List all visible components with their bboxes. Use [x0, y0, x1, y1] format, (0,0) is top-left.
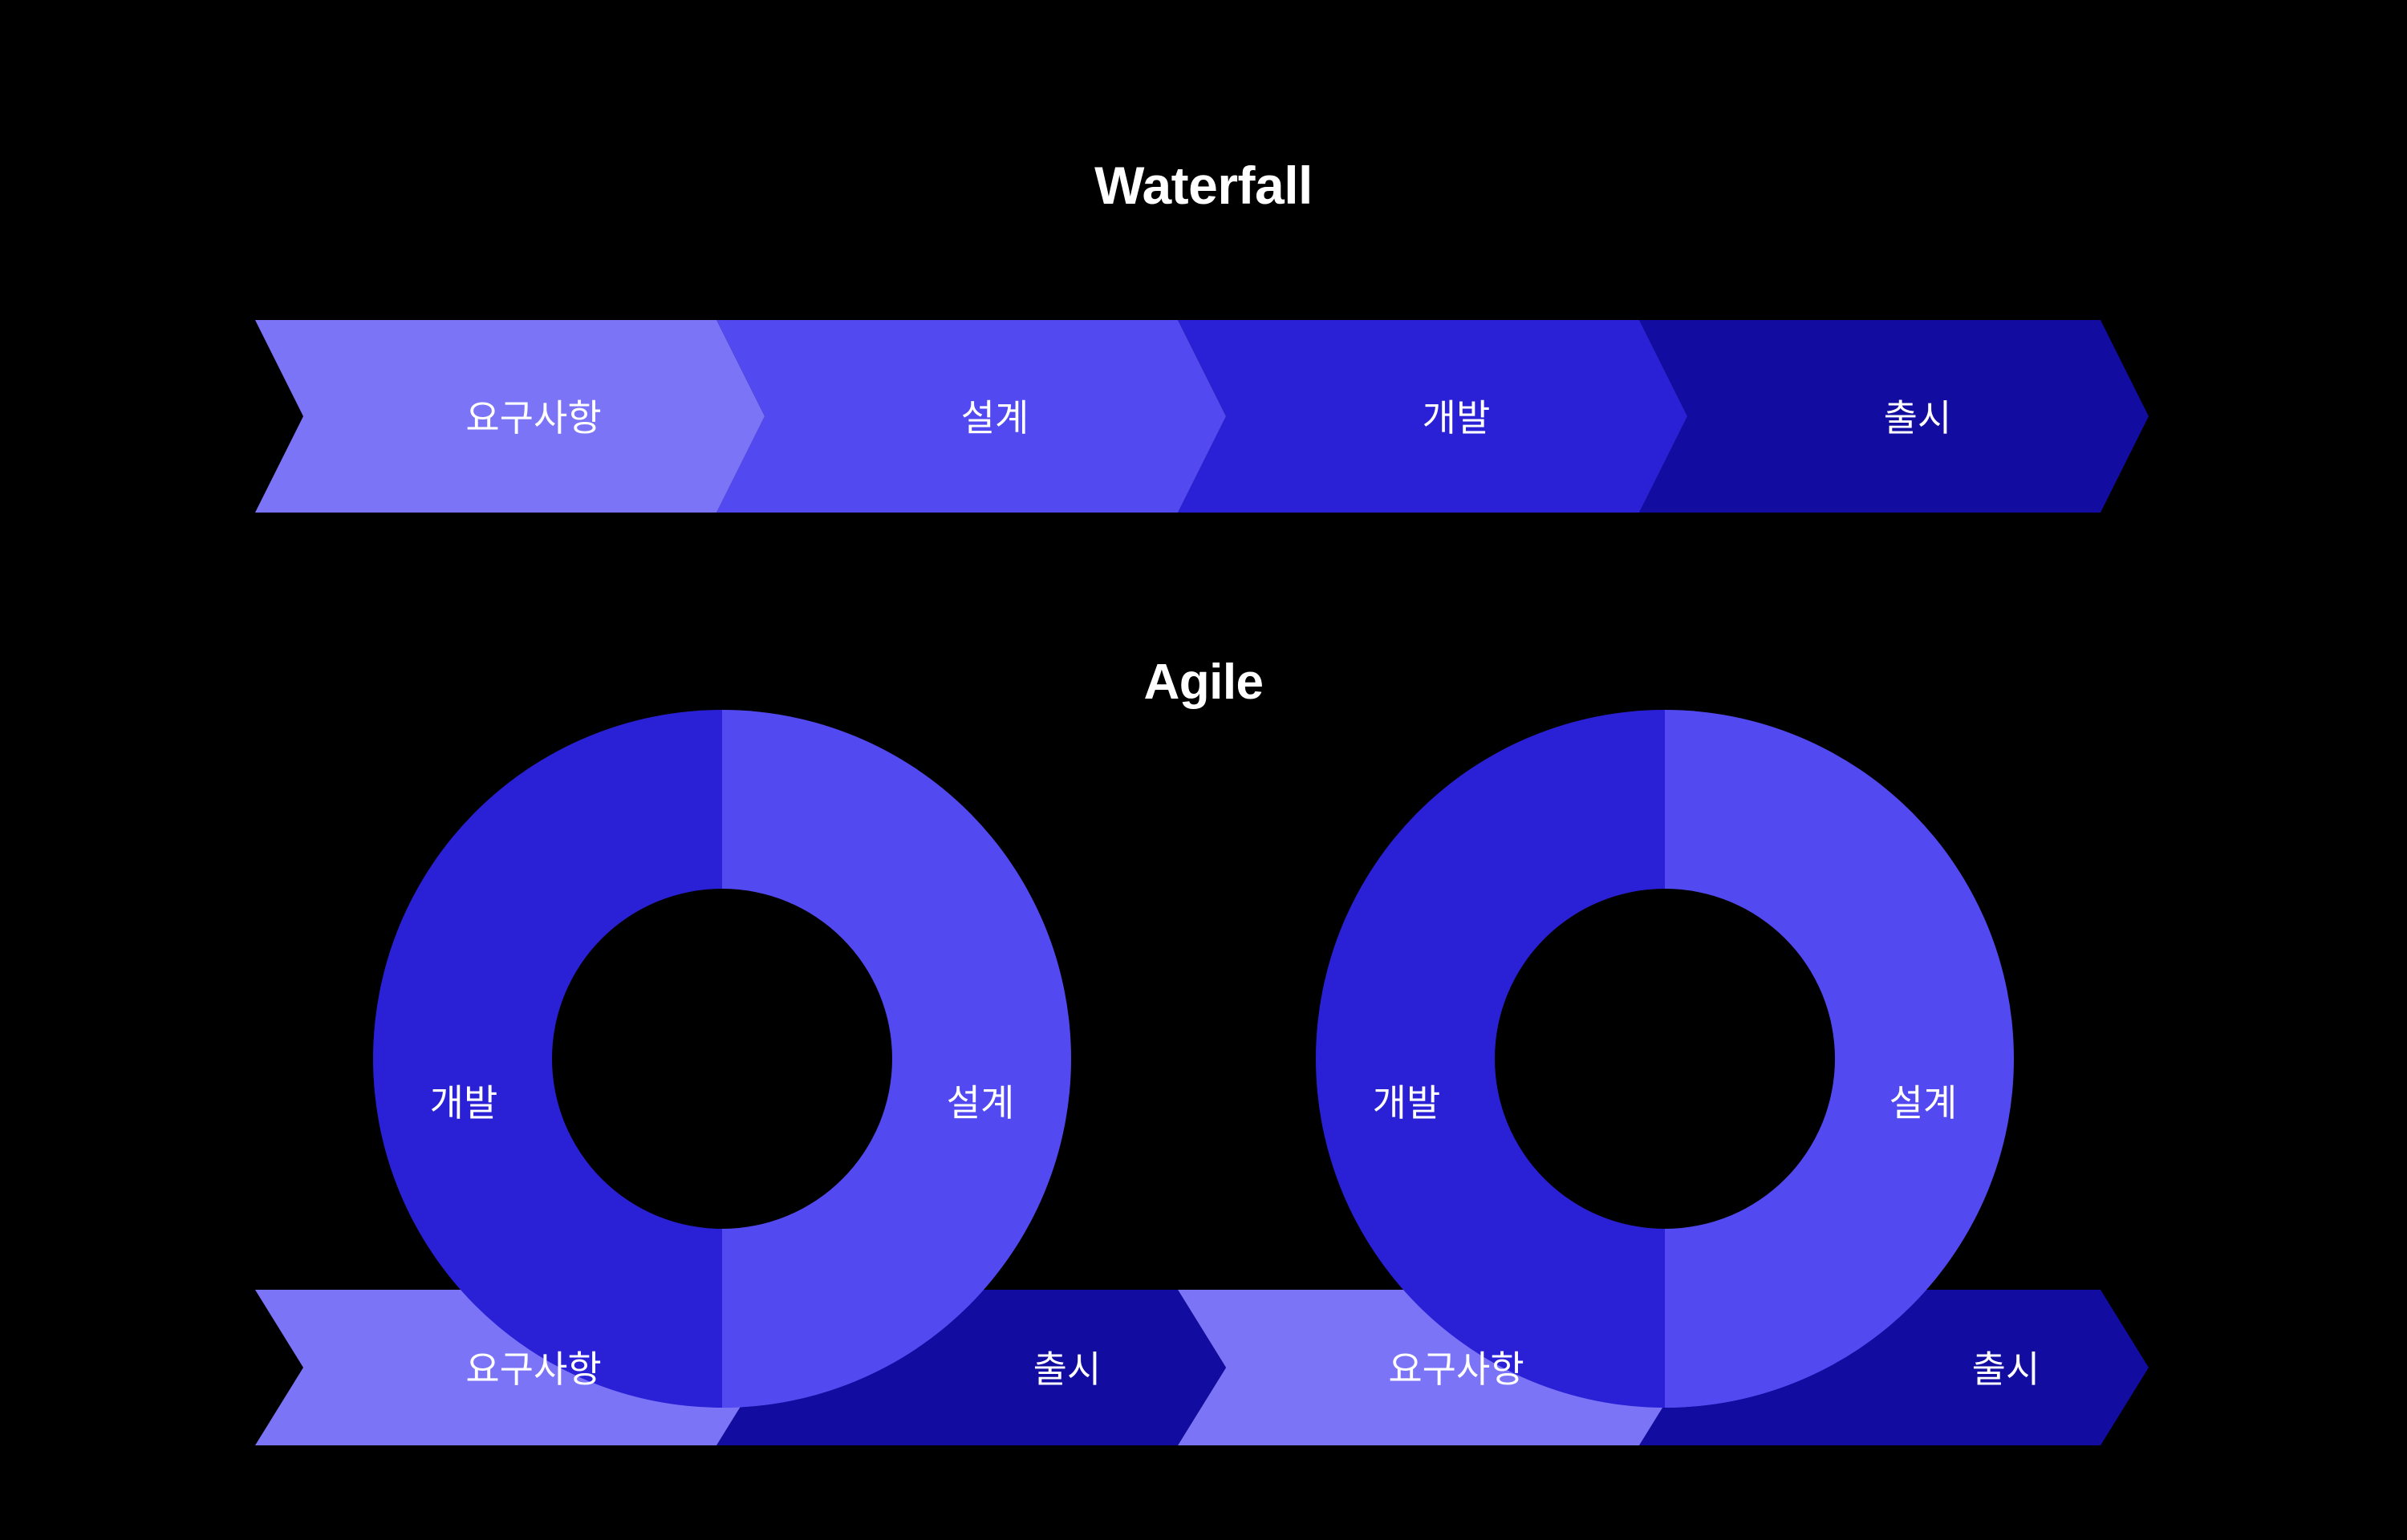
agile-bar-requirements-2[interactable]: [1178, 1290, 1687, 1445]
agile-loop-diagram: 개발 설계 개발 설계 요구사항 출시 요구사항 출시: [0, 0, 2407, 1540]
waterfall-label-release: 출시: [1884, 397, 1952, 439]
waterfall-section-title: Waterfall: [0, 155, 2407, 216]
ring1-label-development: 개발: [430, 1082, 498, 1124]
waterfall-stage-design[interactable]: [716, 320, 1226, 513]
waterfall-stage-development[interactable]: [1178, 320, 1687, 513]
ring2-design-arc[interactable]: [1577, 674, 2066, 1444]
agile-bar-label-requirements-2: 요구사항: [1388, 1348, 1524, 1390]
agile-bar-label-requirements-1: 요구사항: [465, 1348, 601, 1390]
waterfall-label-design: 설계: [961, 397, 1029, 439]
ring1-label-design: 설계: [947, 1082, 1015, 1124]
waterfall-stage-release[interactable]: [1639, 320, 2149, 513]
agile-section-title: Agile: [0, 654, 2407, 711]
waterfall-label-requirements: 요구사항: [465, 397, 601, 439]
agile-loop-ring-2: [1264, 674, 2066, 1444]
ring2-development-arc[interactable]: [1264, 674, 1665, 1444]
ring1-design-arc[interactable]: [634, 674, 1123, 1444]
agile-bar-requirements-1[interactable]: [255, 1290, 765, 1445]
agile-loop-ring-1: [321, 674, 1123, 1444]
agile-bar-release-1[interactable]: [716, 1290, 1226, 1445]
waterfall-label-development: 개발: [1423, 397, 1491, 439]
agile-bar-release-2[interactable]: [1639, 1290, 2149, 1445]
ring2-label-development: 개발: [1373, 1082, 1441, 1124]
agile-bar-label-release-1: 출시: [1033, 1348, 1102, 1390]
ring2-label-design: 설계: [1889, 1082, 1958, 1124]
ring1-arc-over-bar: [634, 674, 1123, 1444]
waterfall-stage-requirements[interactable]: [255, 320, 765, 513]
waterfall-chevron-bar: 요구사항 설계 개발 출시: [0, 0, 2407, 1540]
ring2-arc-over-bar: [1577, 674, 2066, 1444]
diagram-canvas: Waterfall 요구사항 설계 개발 출시 Agile: [0, 0, 2407, 1540]
ring1-development-arc[interactable]: [321, 674, 722, 1444]
agile-bar-label-release-2: 출시: [1972, 1348, 2040, 1390]
